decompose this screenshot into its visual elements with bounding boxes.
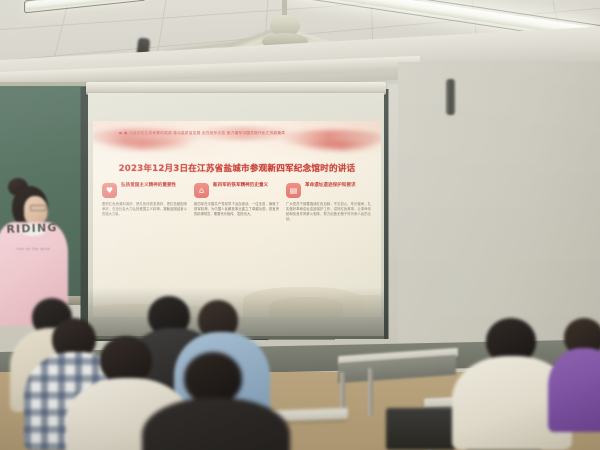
heart-icon: ♥ <box>102 183 117 198</box>
card-title: 革命遗址遗迹保护和要求 <box>305 183 356 190</box>
slide-card: ⌂ 新四军的铁军精神历史意义 新四军在中国共产党领导下浴血奋战、一往无前，铸就了… <box>194 183 279 222</box>
student-head <box>184 352 242 404</box>
slide-title: 2023年12月3日在江苏省盐城市参观新四军纪念馆时的讲话 <box>105 162 369 174</box>
slide-bullet-text: ● 习近平在江苏考察时强调 推动高质量发展 走在前作示范 奋力谱写中国式现代化江… <box>124 131 285 135</box>
slide-card: ▤ 革命遗址遗迹保护和要求 广大党员干部要赓续红色血脉，不忘初心、牢记使命，扎实… <box>286 183 371 222</box>
classroom-photo: ● 习近平在江苏考察时强调 推动高质量发展 走在前作示范 奋力谱写中国式现代化江… <box>0 0 600 450</box>
book-glyph: ▤ <box>290 187 298 195</box>
slide-bullet-line: ● 习近平在江苏考察时强调 推动高质量发展 走在前作示范 奋力谱写中国式现代化江… <box>119 131 359 136</box>
card-title: 新四军的铁军精神历史意义 <box>213 183 268 190</box>
bullet-dot-icon <box>119 132 122 135</box>
card-body: 广大党员干部要赓续红色血脉，不忘初心、牢记使命，扎实做好革命遗址遗迹保护工作，讲… <box>286 202 371 222</box>
slide-card: ♥ 弘扬爱国主义精神的重要性 要把红色资源利用好、把红色传统发扬好、把红色基因传… <box>102 183 187 222</box>
glasses-icon <box>30 205 47 211</box>
card-title: 弘扬爱国主义精神的重要性 <box>121 183 176 190</box>
card-header: ⌂ 新四军的铁军精神历史意义 <box>194 183 279 198</box>
home-glyph: ⌂ <box>199 187 204 195</box>
desk-leg-right-rear2 <box>368 368 373 416</box>
student-head <box>100 336 152 384</box>
card-header: ▤ 革命遗址遗迹保护和要求 <box>286 183 371 198</box>
slide-card-list: ♥ 弘扬爱国主义精神的重要性 要把红色资源利用好、把红色传统发扬好、把红色基因传… <box>102 183 372 222</box>
card-body: 新四军在中国共产党领导下浴血奋战、一往无前，铸就了铁军精神，为中国人民解放事业建… <box>194 202 279 217</box>
hoodie-text: RIDING <box>4 221 60 236</box>
hoodie-subtext: ride on the wind <box>8 247 58 251</box>
chair-right <box>386 408 456 450</box>
heart-glyph: ♥ <box>106 187 113 195</box>
card-body: 要把红色资源利用好、把红色传统发扬好、把红色基因传承好，在全社会大力弘扬爱国主义… <box>102 202 187 217</box>
book-icon: ▤ <box>286 183 301 198</box>
home-icon: ⌂ <box>194 183 209 198</box>
student-body <box>548 348 600 432</box>
wall-conduit-pipe <box>446 79 455 115</box>
card-header: ♥ 弘扬爱国主义精神的重要性 <box>102 183 187 198</box>
